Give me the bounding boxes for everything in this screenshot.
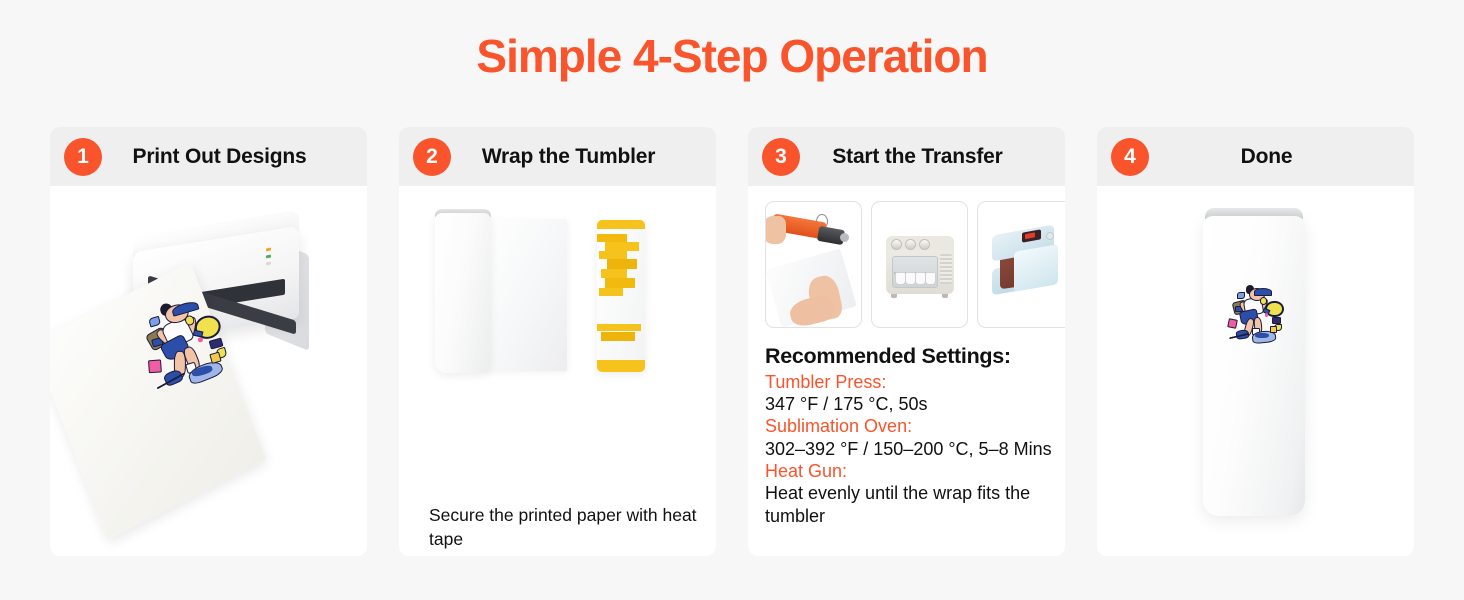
wrap-tumbler-illustration — [399, 186, 716, 436]
oven-vent — [940, 254, 952, 284]
transfer-method-thumbnails — [765, 201, 1065, 328]
finished-tumbler-illustration — [1097, 186, 1414, 556]
tumbler-press-thumbnail[interactable] — [977, 201, 1065, 328]
setting-value-tumbler-press: 347 °F / 175 °C, 50s — [765, 393, 1055, 415]
oven-foot-left — [891, 294, 897, 298]
page-title: Simple 4-Step Operation — [0, 31, 1464, 82]
setting-label-tumbler-press: Tumbler Press: — [765, 371, 1055, 393]
heat-gun-tip — [840, 233, 849, 242]
printer-illustration — [50, 186, 367, 556]
step-2-captions: Secure the printed paper with heat tape … — [429, 504, 697, 556]
tennis-player-cartoon — [1223, 284, 1287, 348]
sublimation-oven-thumbnail[interactable] — [871, 201, 968, 328]
step-3-header: 3 Start the Transfer — [748, 127, 1065, 186]
step-3-body: Recommended Settings: Tumbler Press: 347… — [748, 186, 1065, 556]
step-4-header: 4 Done — [1097, 127, 1414, 186]
recommended-settings: Recommended Settings: Tumbler Press: 347… — [765, 343, 1055, 527]
step-3-title: Start the Transfer — [800, 145, 1065, 169]
step-card-2: 2 Wrap the Tumbler Secure the printed pa… — [399, 127, 716, 556]
setting-label-sublimation-oven: Sublimation Oven: — [765, 415, 1055, 437]
step-1-body — [50, 186, 367, 556]
setting-value-sublimation-oven: 302–392 °F / 150–200 °C, 5–8 Mins — [765, 438, 1055, 460]
step-card-4: 4 Done — [1097, 127, 1414, 556]
step-2-body: Secure the printed paper with heat tape … — [399, 186, 716, 556]
step-2-badge: 2 — [413, 138, 451, 176]
oven-knob-3 — [919, 239, 930, 250]
press-front-panel — [1014, 244, 1058, 292]
step-2-caption-1: Secure the printed paper with heat tape — [429, 504, 697, 551]
step-1-badge: 1 — [64, 138, 102, 176]
step-card-3: 3 Start the Transfer — [748, 127, 1065, 556]
setting-label-heat-gun: Heat Gun: — [765, 460, 1055, 482]
transferred-artwork — [1223, 284, 1287, 348]
press-knob — [1046, 232, 1054, 240]
taped-tumbler — [597, 220, 645, 372]
hand-holding-gun — [765, 216, 786, 244]
printer-indicator-lights — [266, 248, 271, 270]
steps-container: 1 Print Out Designs — [50, 127, 1414, 556]
sublimation-paper-sheet — [483, 219, 567, 371]
step-2-title: Wrap the Tumbler — [451, 145, 716, 169]
oven-knob-1 — [891, 239, 902, 250]
step-4-badge: 4 — [1111, 138, 1149, 176]
step-3-badge: 3 — [762, 138, 800, 176]
finished-tumbler-body — [1203, 216, 1305, 516]
oven-tumbler-4 — [925, 272, 936, 285]
setting-value-heat-gun: Heat evenly until the wrap fits the tumb… — [765, 482, 1055, 527]
oven-knob-2 — [905, 239, 916, 250]
step-1-title: Print Out Designs — [102, 145, 367, 169]
settings-heading: Recommended Settings: — [765, 343, 1055, 370]
step-card-1: 1 Print Out Designs — [50, 127, 367, 556]
step-4-body — [1097, 186, 1414, 556]
step-2-header: 2 Wrap the Tumbler — [399, 127, 716, 186]
oven-foot-right — [942, 294, 948, 298]
step-1-header: 1 Print Out Designs — [50, 127, 367, 186]
blank-tumbler — [435, 213, 491, 373]
step-4-title: Done — [1149, 145, 1414, 169]
heat-gun-thumbnail[interactable] — [765, 201, 862, 328]
